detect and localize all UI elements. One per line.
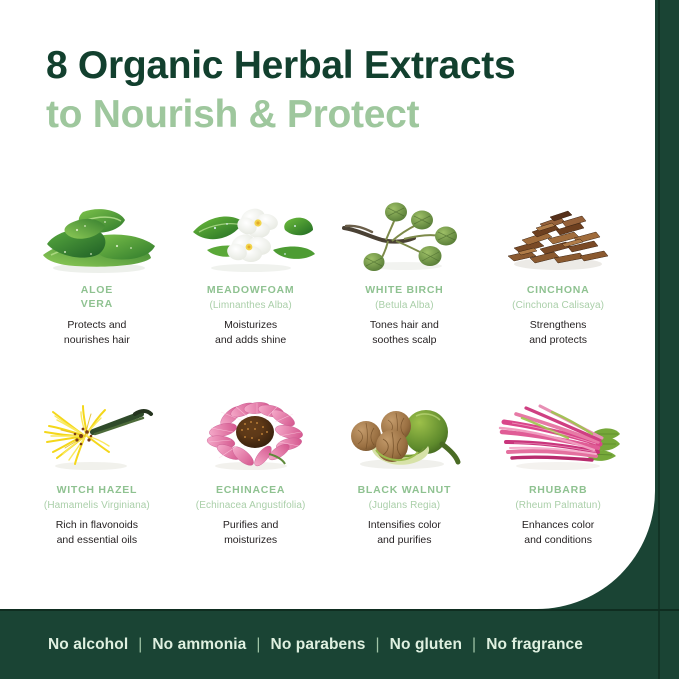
aloe-vera-leaves-image — [31, 192, 163, 278]
ingredient-card-witch-hazel: WITCH HAZEL (Hamamelis Virginiana) Rich … — [20, 392, 174, 592]
page-title-line1: 8 Organic Herbal Extracts — [46, 44, 626, 88]
white-content-card: 8 Organic Herbal Extracts to Nourish & P… — [0, 0, 655, 609]
ingredient-card-white-birch: WHITE BIRCH (Betula Alba) Tones hair and… — [328, 192, 482, 392]
ingredient-card-echinacea: ECHINACEA (Echinacea Angustifolia) Purif… — [174, 392, 328, 592]
ingredient-card-rhubarb: RHUBARB (Rheum Palmatun) Enhances color … — [481, 392, 635, 592]
ingredient-description: Purifies and moisturizes — [223, 518, 278, 548]
claim-no-ammonia: No ammonia — [152, 636, 246, 654]
ingredient-name: WHITE BIRCH — [365, 284, 443, 298]
frame-accent-line-right — [658, 0, 660, 679]
claim-separator: | — [376, 636, 380, 654]
ingredient-grid: ALOE VERA Protects and nourishes hair — [20, 192, 635, 592]
ingredient-latin-name: (Rheum Palmatun) — [515, 499, 601, 513]
ingredient-latin-name: (Limnanthes Alba) — [209, 299, 291, 313]
black-walnut-nuts-image — [338, 392, 470, 478]
ingredient-description: Rich in flavonoids and essential oils — [56, 518, 138, 548]
ingredient-name: WITCH HAZEL — [57, 484, 138, 498]
ingredient-name: CINCHONA — [527, 284, 590, 298]
claims-banner: No alcohol | No ammonia | No parabens | … — [0, 611, 679, 679]
page-title-line2: to Nourish & Protect — [46, 92, 626, 138]
ingredient-description: Strengthens and protects — [529, 318, 587, 348]
white-birch-catkin-branch-image — [338, 192, 470, 278]
cinchona-bark-chips-image — [492, 192, 624, 278]
meadowfoam-flower-image — [185, 192, 317, 278]
claim-no-alcohol: No alcohol — [48, 636, 128, 654]
ingredient-latin-name: (Cinchona Calisaya) — [512, 299, 604, 313]
ingredient-card-black-walnut: BLACK WALNUT (Juglans Regia) Intensifies… — [328, 392, 482, 592]
ingredient-name: MEADOWFOAM — [207, 284, 294, 298]
claim-separator: | — [472, 636, 476, 654]
ingredient-description: Protects and nourishes hair — [64, 318, 130, 348]
ingredient-latin-name: (Echinacea Angustifolia) — [196, 499, 306, 513]
ingredient-description: Moisturizes and adds shine — [215, 318, 286, 348]
ingredient-card-meadowfoam: MEADOWFOAM (Limnanthes Alba) Moisturizes… — [174, 192, 328, 392]
echinacea-pink-coneflower-image — [185, 392, 317, 478]
ingredient-name: RHUBARB — [529, 484, 587, 498]
ingredient-name: ECHINACEA — [216, 484, 285, 498]
ingredient-name: BLACK WALNUT — [358, 484, 452, 498]
ingredient-card-aloe-vera: ALOE VERA Protects and nourishes hair — [20, 192, 174, 392]
witch-hazel-yellow-flower-image — [31, 392, 163, 478]
ingredient-latin-name: (Hamamelis Virginiana) — [44, 499, 150, 513]
ingredient-name: ALOE VERA — [81, 284, 113, 312]
claim-no-parabens: No parabens — [271, 636, 366, 654]
claim-separator: | — [256, 636, 260, 654]
page-title-block: 8 Organic Herbal Extracts to Nourish & P… — [46, 44, 626, 138]
claim-no-fragrance: No fragrance — [486, 636, 583, 654]
ingredient-latin-name: (Betula Alba) — [375, 299, 434, 313]
rhubarb-pink-stalks-image — [492, 392, 624, 478]
ingredient-description: Enhances color and conditions — [522, 518, 594, 548]
ingredient-latin-name: (Juglans Regia) — [369, 499, 441, 513]
ingredient-card-cinchona: CINCHONA (Cinchona Calisaya) Strengthens… — [481, 192, 635, 392]
claim-no-gluten: No gluten — [390, 636, 462, 654]
claim-separator: | — [138, 636, 142, 654]
ingredient-description: Tones hair and soothes scalp — [370, 318, 439, 348]
claims-list: No alcohol | No ammonia | No parabens | … — [48, 636, 583, 654]
ingredient-description: Intensifies color and purifies — [368, 518, 441, 548]
